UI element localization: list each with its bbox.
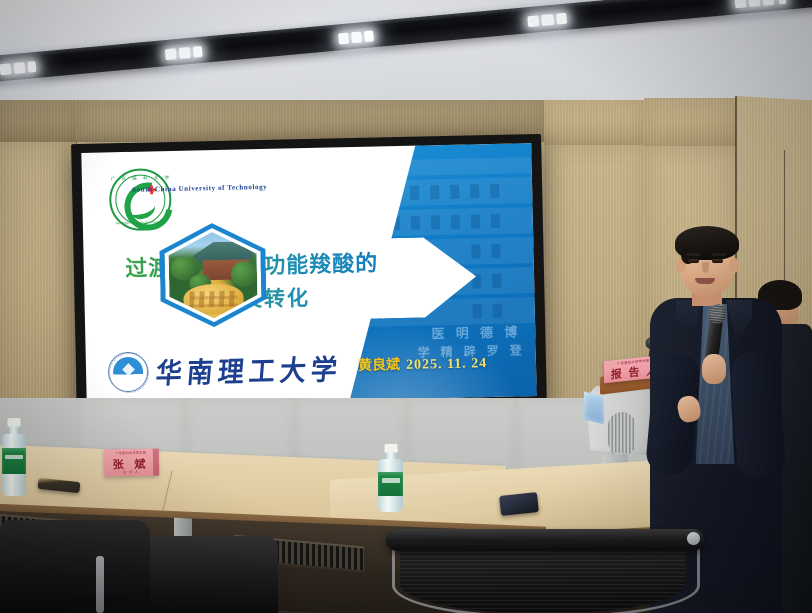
water-bottle-left <box>2 418 26 496</box>
lectern-speaker-grille <box>608 412 636 456</box>
slide-date: 2025. 11. 24 <box>406 356 488 373</box>
ceiling-light-5 <box>734 0 736 14</box>
stone-inscription <box>189 291 237 308</box>
conference-room-photo: 医 明 德 博 学 精 辟 罗 登 过渡金属催化功能羧酸的 合成及转化 广 东 … <box>0 0 812 613</box>
wall-panel-upper-right <box>644 98 739 146</box>
slide-byline: 黄良斌2025. 11. 24 <box>358 352 488 375</box>
slide-presenter-name: 黄良斌 <box>358 358 400 374</box>
table-placard-top-line: 广东医科大学药学院 <box>104 450 158 456</box>
presentation-screen: 医 明 德 博 学 精 辟 罗 登 过渡金属催化功能羧酸的 合成及转化 广 东 … <box>71 134 547 415</box>
slide-canvas: 医 明 德 博 学 精 辟 罗 登 过渡金属催化功能羧酸的 合成及转化 广 东 … <box>81 143 536 406</box>
presenter-arm-right <box>730 350 787 479</box>
scut-seal-icon <box>108 352 149 393</box>
water-bottle-right <box>378 444 403 512</box>
chair-frame <box>392 547 700 613</box>
table-name-placard: 广东医科大学药学院 张 斌 主 持 人 <box>104 449 158 477</box>
photo-stone-monument <box>183 283 244 314</box>
chair-left-background <box>0 520 150 613</box>
smartphone-on-table <box>499 492 539 516</box>
scut-chinese-name: 华南理工大学 <box>154 347 343 391</box>
wall-panel-upper-mid <box>544 100 645 145</box>
scut-english-name: South China University of Technology <box>132 183 267 194</box>
slide-title-arrow: 过渡金属催化功能羧酸的 合成及转化 <box>83 236 477 325</box>
wall-panel-upper-left <box>0 100 77 142</box>
slide-ghost-text-1: 医 明 德 博 <box>431 321 521 342</box>
chair-left-background-2 <box>150 536 278 613</box>
hexagon-photo-content <box>168 231 258 319</box>
presenter-hair <box>675 226 739 260</box>
chair-adjust-knob <box>687 532 700 545</box>
table-placard-sub: 主 持 人 <box>104 469 158 475</box>
logo-chinese-name: 广 东 医 科 大 学 <box>111 175 169 182</box>
hexagon-inner-border <box>164 227 262 323</box>
presenter-hand-on-mic <box>702 354 726 384</box>
chair-top-rail <box>386 529 704 551</box>
chair-left-post <box>96 556 104 613</box>
wall-panel-left <box>0 142 77 432</box>
lectern-side-badge <box>584 392 604 425</box>
scut-logo-block: 华南理工大学 <box>108 347 343 392</box>
guangdong-medical-university-logo: 广 东 医 科 大 学 Guangdong Medical University <box>109 168 172 231</box>
chair-foreground <box>386 529 716 613</box>
